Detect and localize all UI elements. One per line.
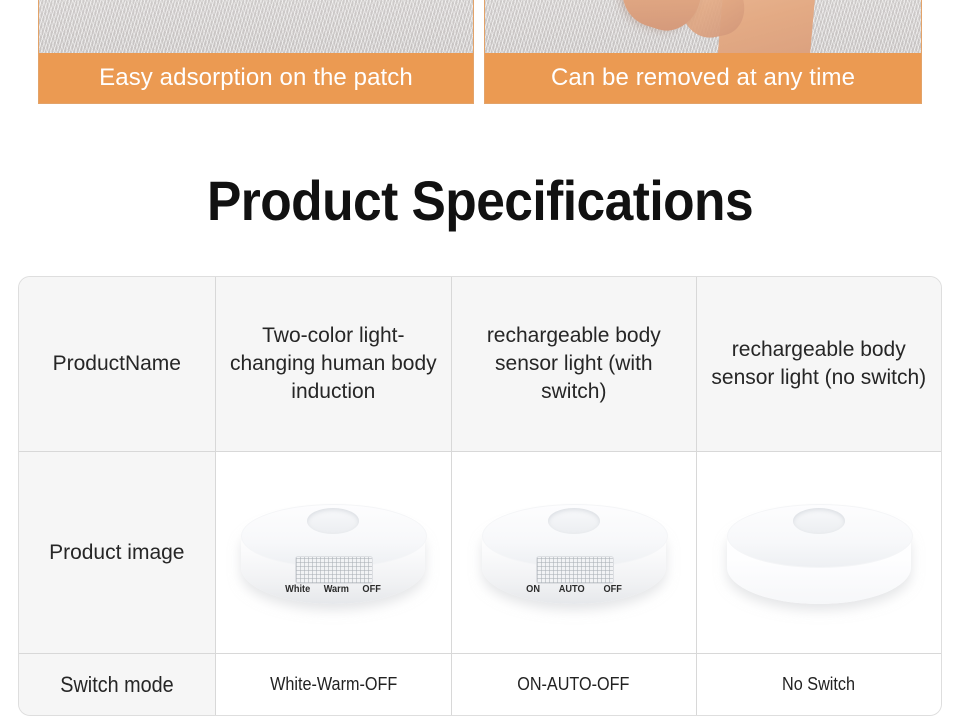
banner-easy-adsorption: Easy adsorption on the patch: [38, 0, 474, 104]
switch-label: OFF: [363, 584, 381, 595]
switch-labels: ON AUTO OFF: [526, 584, 622, 595]
row-label-product-image: Product image: [19, 452, 216, 653]
banner-photo-hand: [485, 0, 921, 55]
cell-text: rechargeable body sensor light (with swi…: [460, 322, 687, 405]
table-row-product-image: Product image White Warm OFF: [19, 452, 941, 654]
cell-switch-mode-2: ON-AUTO-OFF: [452, 654, 696, 715]
switch-label: AUTO: [559, 584, 585, 595]
cell-text: Two-color light-changing human body indu…: [224, 322, 443, 405]
product-photo-two-color: White Warm OFF: [233, 494, 433, 612]
switch-label: White: [285, 584, 310, 595]
cell-text: Product image: [49, 541, 184, 565]
cell-text: White-Warm-OFF: [270, 674, 397, 695]
cell-switch-mode-1: White-Warm-OFF: [216, 654, 452, 715]
switch-panel: [295, 556, 373, 584]
cell-product-name-2: rechargeable body sensor light (with swi…: [452, 277, 696, 451]
cell-text: No Switch: [782, 674, 855, 695]
row-label-switch-mode: Switch mode: [19, 654, 216, 715]
switch-labels: White Warm OFF: [285, 584, 381, 595]
light-sensor-dome: [307, 508, 359, 534]
cell-product-image-1: White Warm OFF: [216, 452, 452, 653]
switch-panel: [536, 556, 614, 584]
row-label-product-name: ProductName: [19, 277, 216, 451]
switch-label: Warm: [324, 584, 349, 595]
cell-switch-mode-3: No Switch: [697, 654, 941, 715]
banner-caption-left: Easy adsorption on the patch: [39, 53, 473, 103]
product-photo-no-switch: [719, 494, 919, 612]
light-sensor-dome: [548, 508, 600, 534]
cell-text: Switch mode: [60, 672, 173, 698]
product-specifications-table: ProductName Two-color light-changing hum…: [18, 276, 942, 716]
lifestyle-banner-strip: Easy adsorption on the patch Can be remo…: [0, 0, 960, 104]
cell-product-name-3: rechargeable body sensor light (no switc…: [697, 277, 941, 451]
page-title: Product Specifications: [38, 168, 921, 233]
light-sensor-dome: [793, 508, 845, 534]
cell-product-name-1: Two-color light-changing human body indu…: [216, 277, 452, 451]
banner-photo-wall: [39, 0, 473, 55]
banner-removable-anytime: Can be removed at any time: [484, 0, 922, 104]
cell-product-image-3: [697, 452, 941, 653]
cell-product-image-2: ON AUTO OFF: [452, 452, 696, 653]
switch-label: OFF: [603, 584, 621, 595]
switch-label: ON: [526, 584, 540, 595]
cell-text: ProductName: [53, 352, 181, 376]
banner-caption-right: Can be removed at any time: [485, 53, 921, 103]
table-row-switch-mode: Switch mode White-Warm-OFF ON-AUTO-OFF N…: [19, 654, 941, 715]
table-row-product-name: ProductName Two-color light-changing hum…: [19, 277, 941, 452]
cell-text: ON-AUTO-OFF: [518, 674, 630, 695]
product-photo-with-switch: ON AUTO OFF: [474, 494, 674, 612]
cell-text: rechargeable body sensor light (no switc…: [705, 336, 933, 391]
